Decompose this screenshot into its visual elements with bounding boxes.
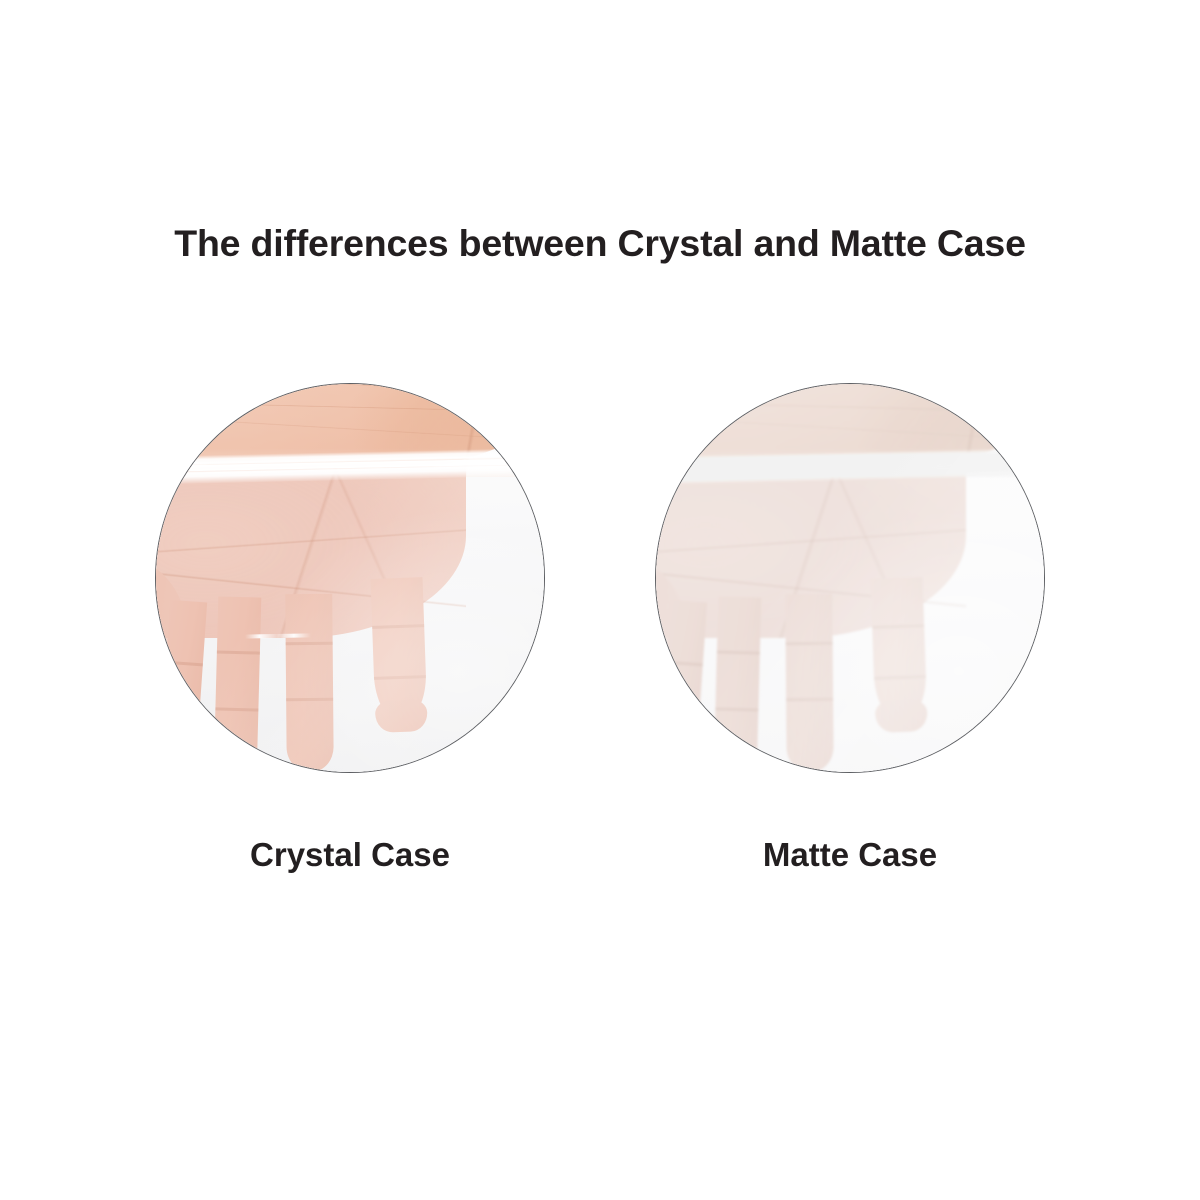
case-label-crystal: Crystal Case xyxy=(155,836,545,874)
case-panel-matte: Matte Case xyxy=(655,383,1045,903)
finger-middle xyxy=(285,593,333,772)
finger-index xyxy=(371,577,428,722)
finger-middle xyxy=(785,593,833,772)
matte-case-photo xyxy=(655,383,1045,773)
finger-index xyxy=(871,577,928,722)
case-label-matte: Matte Case xyxy=(655,836,1045,874)
finger-ring xyxy=(214,597,261,772)
matte-photo-inner xyxy=(656,384,1044,772)
case-panel-crystal: Crystal Case xyxy=(155,383,545,903)
case-comparison-row: Crystal Case xyxy=(0,383,1200,903)
crystal-photo-inner xyxy=(156,384,544,772)
finger-ring xyxy=(714,597,761,772)
hand-illustration xyxy=(656,384,1044,772)
infographic-page: The differences between Crystal and Matt… xyxy=(0,0,1200,1200)
page-title: The differences between Crystal and Matt… xyxy=(0,222,1200,265)
hand-illustration xyxy=(156,384,544,772)
crystal-case-photo xyxy=(155,383,545,773)
